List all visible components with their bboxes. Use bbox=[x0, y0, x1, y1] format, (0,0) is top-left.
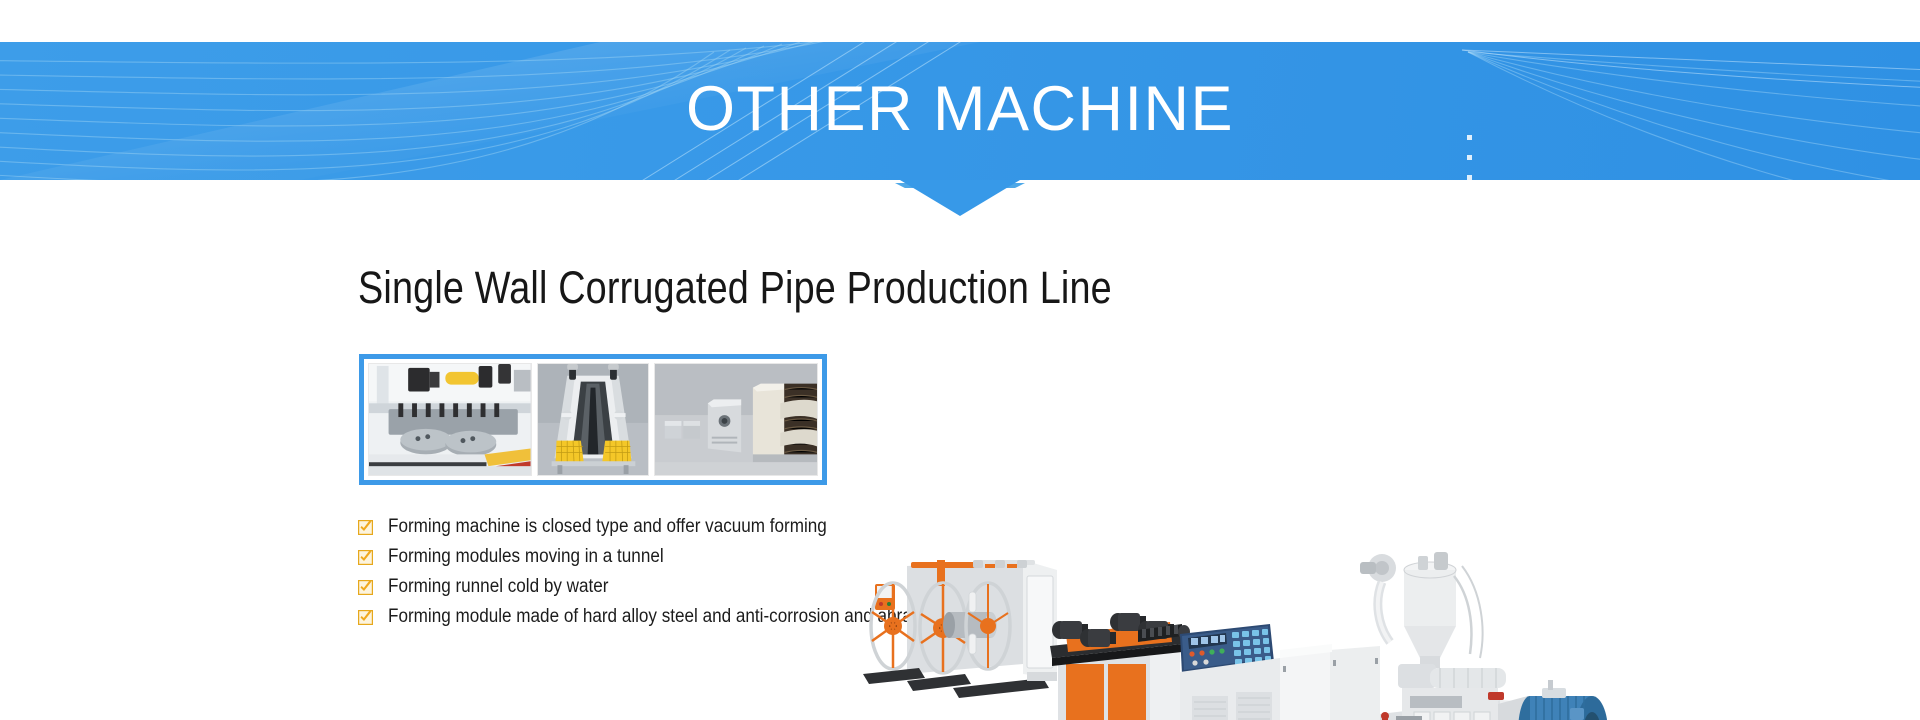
page-title: Single Wall Corrugated Pipe Production L… bbox=[358, 262, 1112, 314]
list-item-label: Forming modules moving in a tunnel bbox=[388, 546, 664, 568]
main-content: Single Wall Corrugated Pipe Production L… bbox=[0, 216, 1920, 720]
production-line-illustration bbox=[1030, 546, 1610, 720]
banner-background: OTHER MACHINE bbox=[0, 42, 1920, 180]
gallery-thumb-forming-machine[interactable] bbox=[368, 363, 532, 476]
chevron-down-icon bbox=[0, 180, 1920, 216]
product-gallery bbox=[359, 354, 827, 485]
forming-module-photo bbox=[538, 364, 648, 475]
page-root: OTHER MACHINE Single Wall Corrugated Pip… bbox=[0, 0, 1920, 720]
banner-title: OTHER MACHINE bbox=[0, 42, 1920, 180]
list-item-label: Forming machine is closed type and offer… bbox=[388, 516, 827, 538]
list-item-label: Forming runnel cold by water bbox=[388, 576, 609, 598]
gallery-thumb-forming-module[interactable] bbox=[537, 363, 649, 476]
list-item: Forming machine is closed type and offer… bbox=[358, 512, 998, 542]
check-box-icon bbox=[358, 580, 373, 595]
check-box-icon bbox=[358, 520, 373, 535]
gallery-thumb-forming-blocks[interactable] bbox=[654, 363, 819, 476]
forming-machine-photo bbox=[369, 364, 531, 475]
check-box-icon bbox=[358, 550, 373, 565]
banner-divider bbox=[0, 180, 1920, 216]
banner: OTHER MACHINE bbox=[0, 42, 1920, 180]
check-box-icon bbox=[358, 610, 373, 625]
production-line-photo bbox=[1030, 546, 1610, 720]
forming-blocks-photo bbox=[655, 364, 818, 475]
